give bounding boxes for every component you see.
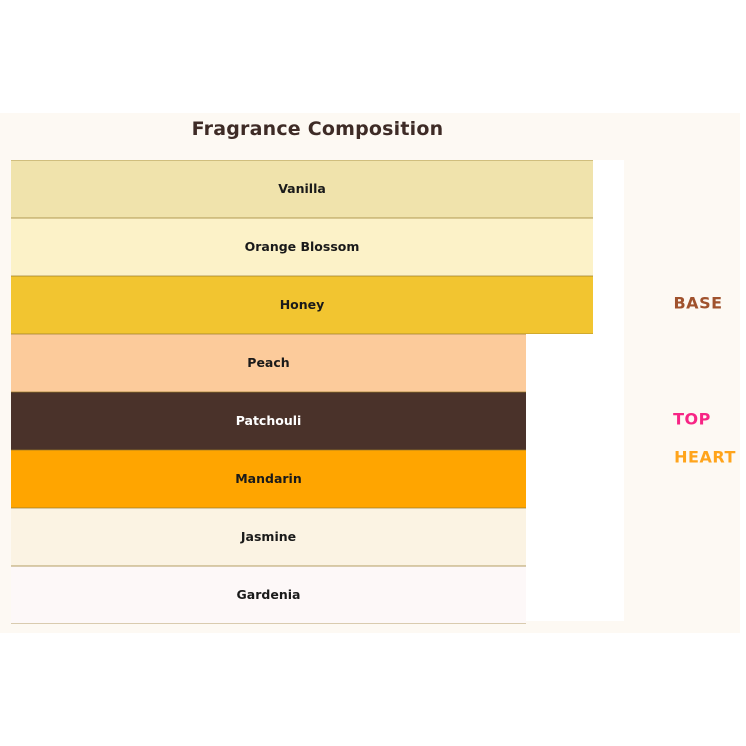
bar-row: Orange Blossom (11, 218, 624, 276)
family-label-heart: HEART (674, 448, 736, 467)
bar-patchouli[interactable] (11, 392, 526, 450)
bar-gardenia[interactable] (11, 566, 526, 624)
bar-vanilla[interactable] (11, 160, 593, 218)
bar-honey[interactable] (11, 276, 593, 334)
bar-row: Jasmine (11, 508, 624, 566)
bar-row: Honey (11, 276, 624, 334)
bar-row: Mandarin (11, 450, 624, 508)
family-label-top: TOP (673, 410, 711, 429)
bar-jasmine[interactable] (11, 508, 526, 566)
page-title: Fragrance Composition (0, 118, 635, 140)
bar-mandarin[interactable] (11, 450, 526, 508)
bar-peach[interactable] (11, 334, 526, 392)
bar-row: Gardenia (11, 566, 624, 624)
chart-figure: Fragrance Composition VanillaOrange Blos… (0, 113, 740, 633)
bar-row: Vanilla (11, 160, 624, 218)
bar-row: Peach (11, 334, 624, 392)
bar-orange-blossom[interactable] (11, 218, 593, 276)
family-label-base: BASE (673, 294, 722, 313)
bar-row: Patchouli (11, 392, 624, 450)
